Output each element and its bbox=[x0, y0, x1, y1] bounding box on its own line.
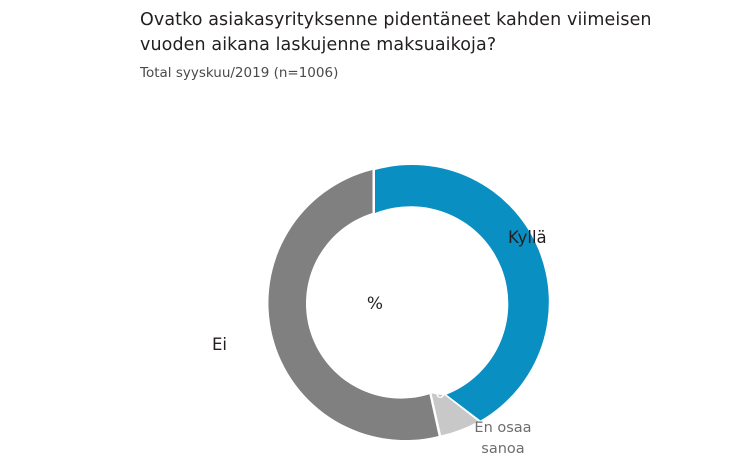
donut-slice-kylla[interactable] bbox=[375, 165, 549, 421]
donut-center-unit-label: % bbox=[345, 294, 405, 314]
donut-chart: 36 6 58 % Kyllä Ei En osaa sanoa bbox=[0, 0, 750, 470]
chart-page: Ovatko asiakasyrityksenne pidentäneet ka… bbox=[0, 0, 750, 470]
slice-label-en-osaa-sanoa-line1: En osaa bbox=[450, 418, 556, 439]
slice-label-ei: Ei bbox=[212, 335, 227, 354]
slice-value-en-osaa-sanoa: 6 bbox=[426, 384, 454, 402]
slice-label-en-osaa-sanoa-line2: sanoa bbox=[450, 439, 556, 460]
donut-slices bbox=[268, 165, 548, 440]
slice-label-en-osaa-sanoa: En osaa sanoa bbox=[450, 418, 556, 460]
slice-value-ei: 58 bbox=[243, 324, 277, 342]
slice-label-kylla: Kyllä bbox=[508, 228, 547, 247]
donut-chart-svg bbox=[0, 0, 750, 470]
slice-value-kylla: 36 bbox=[452, 249, 486, 267]
